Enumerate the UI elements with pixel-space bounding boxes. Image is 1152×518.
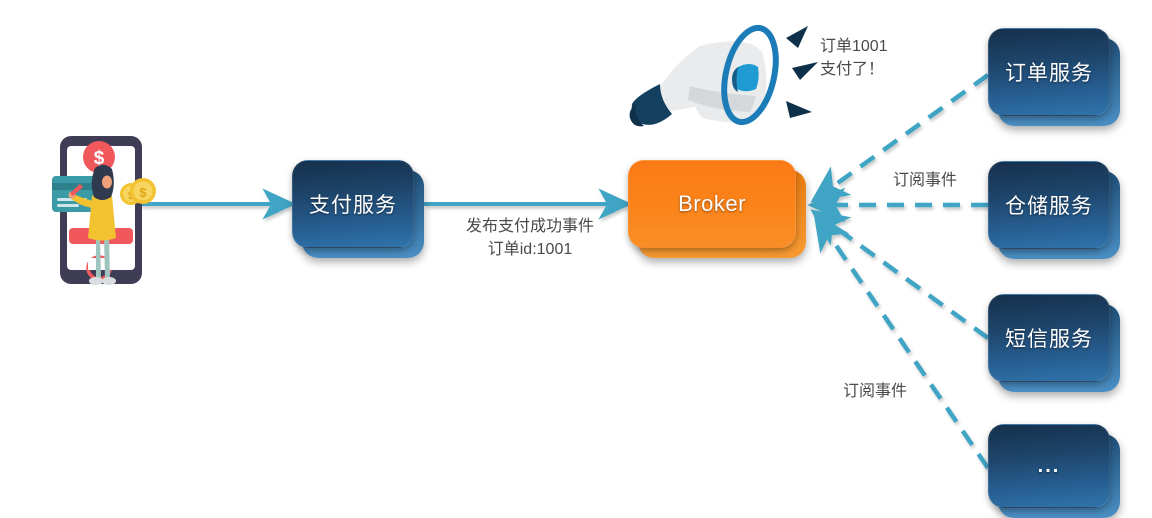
callout-line2: 支付了！: [820, 59, 950, 81]
node-face: 支付服务: [292, 160, 414, 248]
node-face: 订单服务: [988, 28, 1110, 116]
node-face: Broker: [628, 160, 796, 248]
node-more-service[interactable]: ...: [988, 424, 1110, 508]
node-label-sms-service: 短信服务: [1005, 323, 1093, 353]
node-label-more-service: ...: [1038, 455, 1061, 478]
node-sms-service[interactable]: 短信服务: [988, 294, 1110, 382]
megaphone-icon: [630, 23, 818, 127]
node-order-service[interactable]: 订单服务: [988, 28, 1110, 116]
mobile-payment-illustration: $ $ $: [52, 136, 156, 285]
node-broker[interactable]: Broker: [628, 160, 796, 248]
label-publish-event-line1: 发布支付成功事件: [440, 216, 620, 238]
label-publish-event-line2: 订单id:1001: [440, 239, 620, 261]
node-label-order-service: 订单服务: [1005, 57, 1093, 87]
diagram-canvas: $ $ $: [0, 0, 1152, 518]
node-face: 仓储服务: [988, 161, 1110, 249]
node-label-payment-service: 支付服务: [309, 189, 397, 219]
node-warehouse-service[interactable]: 仓储服务: [988, 161, 1110, 249]
node-label-broker: Broker: [678, 191, 746, 217]
node-label-warehouse-service: 仓储服务: [1005, 190, 1093, 220]
svg-text:$: $: [139, 185, 147, 200]
label-subscribe-event-bottom: 订阅事件: [825, 381, 925, 403]
label-subscribe-event-top: 订阅事件: [875, 170, 975, 192]
node-face: 短信服务: [988, 294, 1110, 382]
callout-line1: 订单1001: [820, 36, 950, 58]
node-face: ...: [988, 424, 1110, 508]
node-payment-service[interactable]: 支付服务: [292, 160, 414, 248]
